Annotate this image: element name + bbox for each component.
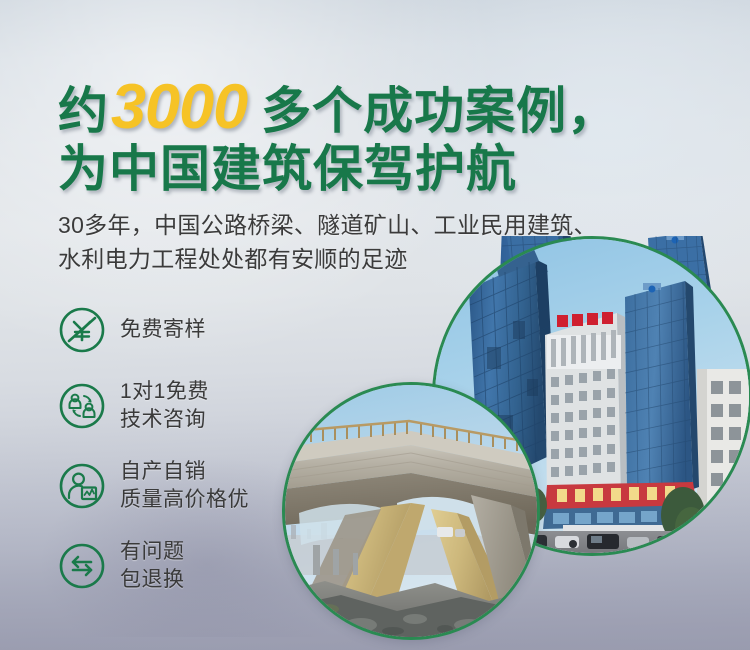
subtitle: 30多年，中国公路桥梁、隧道矿山、工业民用建筑、 水利电力工程处处都有安顺的足迹 [58, 208, 730, 276]
feature-label: 有问题 包退换 [120, 538, 185, 594]
feature-label-line1: 1对1免费 [120, 378, 209, 406]
headline-subline: 为中国建筑保驾护航 [58, 141, 517, 197]
feature-list: 免费寄样 1对1免费 技术咨询 [58, 294, 318, 606]
feature-label: 免费寄样 [120, 316, 206, 344]
feature-label-line2: 质量高价格优 [120, 486, 249, 514]
feature-label-line1: 有问题 [120, 538, 185, 566]
headline: 约 3000 多个成功案例， 为中国建筑保驾护航 [58, 76, 718, 194]
feature-label-line2: 包退换 [120, 566, 185, 594]
bridge-photo [282, 382, 540, 640]
headline-prefix: 约 [58, 86, 109, 136]
feature-label: 自产自销 质量高价格优 [120, 458, 249, 514]
headline-number: 3000 [109, 76, 253, 139]
subtitle-line-1: 30多年，中国公路桥梁、隧道矿山、工业民用建筑、 [58, 208, 730, 242]
subtitle-line-2: 水利电力工程处处都有安顺的足迹 [58, 242, 730, 276]
feature-label-line1: 自产自销 [120, 458, 249, 486]
feature-item-consultation[interactable]: 1对1免费 技术咨询 [58, 366, 318, 446]
headline-line-1: 约 3000 多个成功案例， [58, 76, 718, 138]
headline-suffix: 多个成功案例， [253, 86, 618, 136]
promo-banner: 约 3000 多个成功案例， 为中国建筑保驾护航 30多年，中国公路桥梁、隧道矿… [0, 0, 750, 650]
feature-item-free-sample[interactable]: 免费寄样 [58, 294, 318, 366]
feature-item-return-exchange[interactable]: 有问题 包退换 [58, 526, 318, 606]
feature-label: 1对1免费 技术咨询 [120, 378, 209, 434]
return-exchange-arrows-icon [58, 542, 106, 590]
headline-line-2: 为中国建筑保驾护航 [58, 144, 718, 194]
feature-label-line2: 技术咨询 [120, 406, 209, 434]
free-sample-yuan-slash-icon [58, 306, 106, 354]
feature-label-line1: 免费寄样 [120, 318, 206, 341]
one-on-one-consult-icon [58, 382, 106, 430]
self-produce-self-sell-icon [58, 462, 106, 510]
feature-item-self-production[interactable]: 自产自销 质量高价格优 [58, 446, 318, 526]
